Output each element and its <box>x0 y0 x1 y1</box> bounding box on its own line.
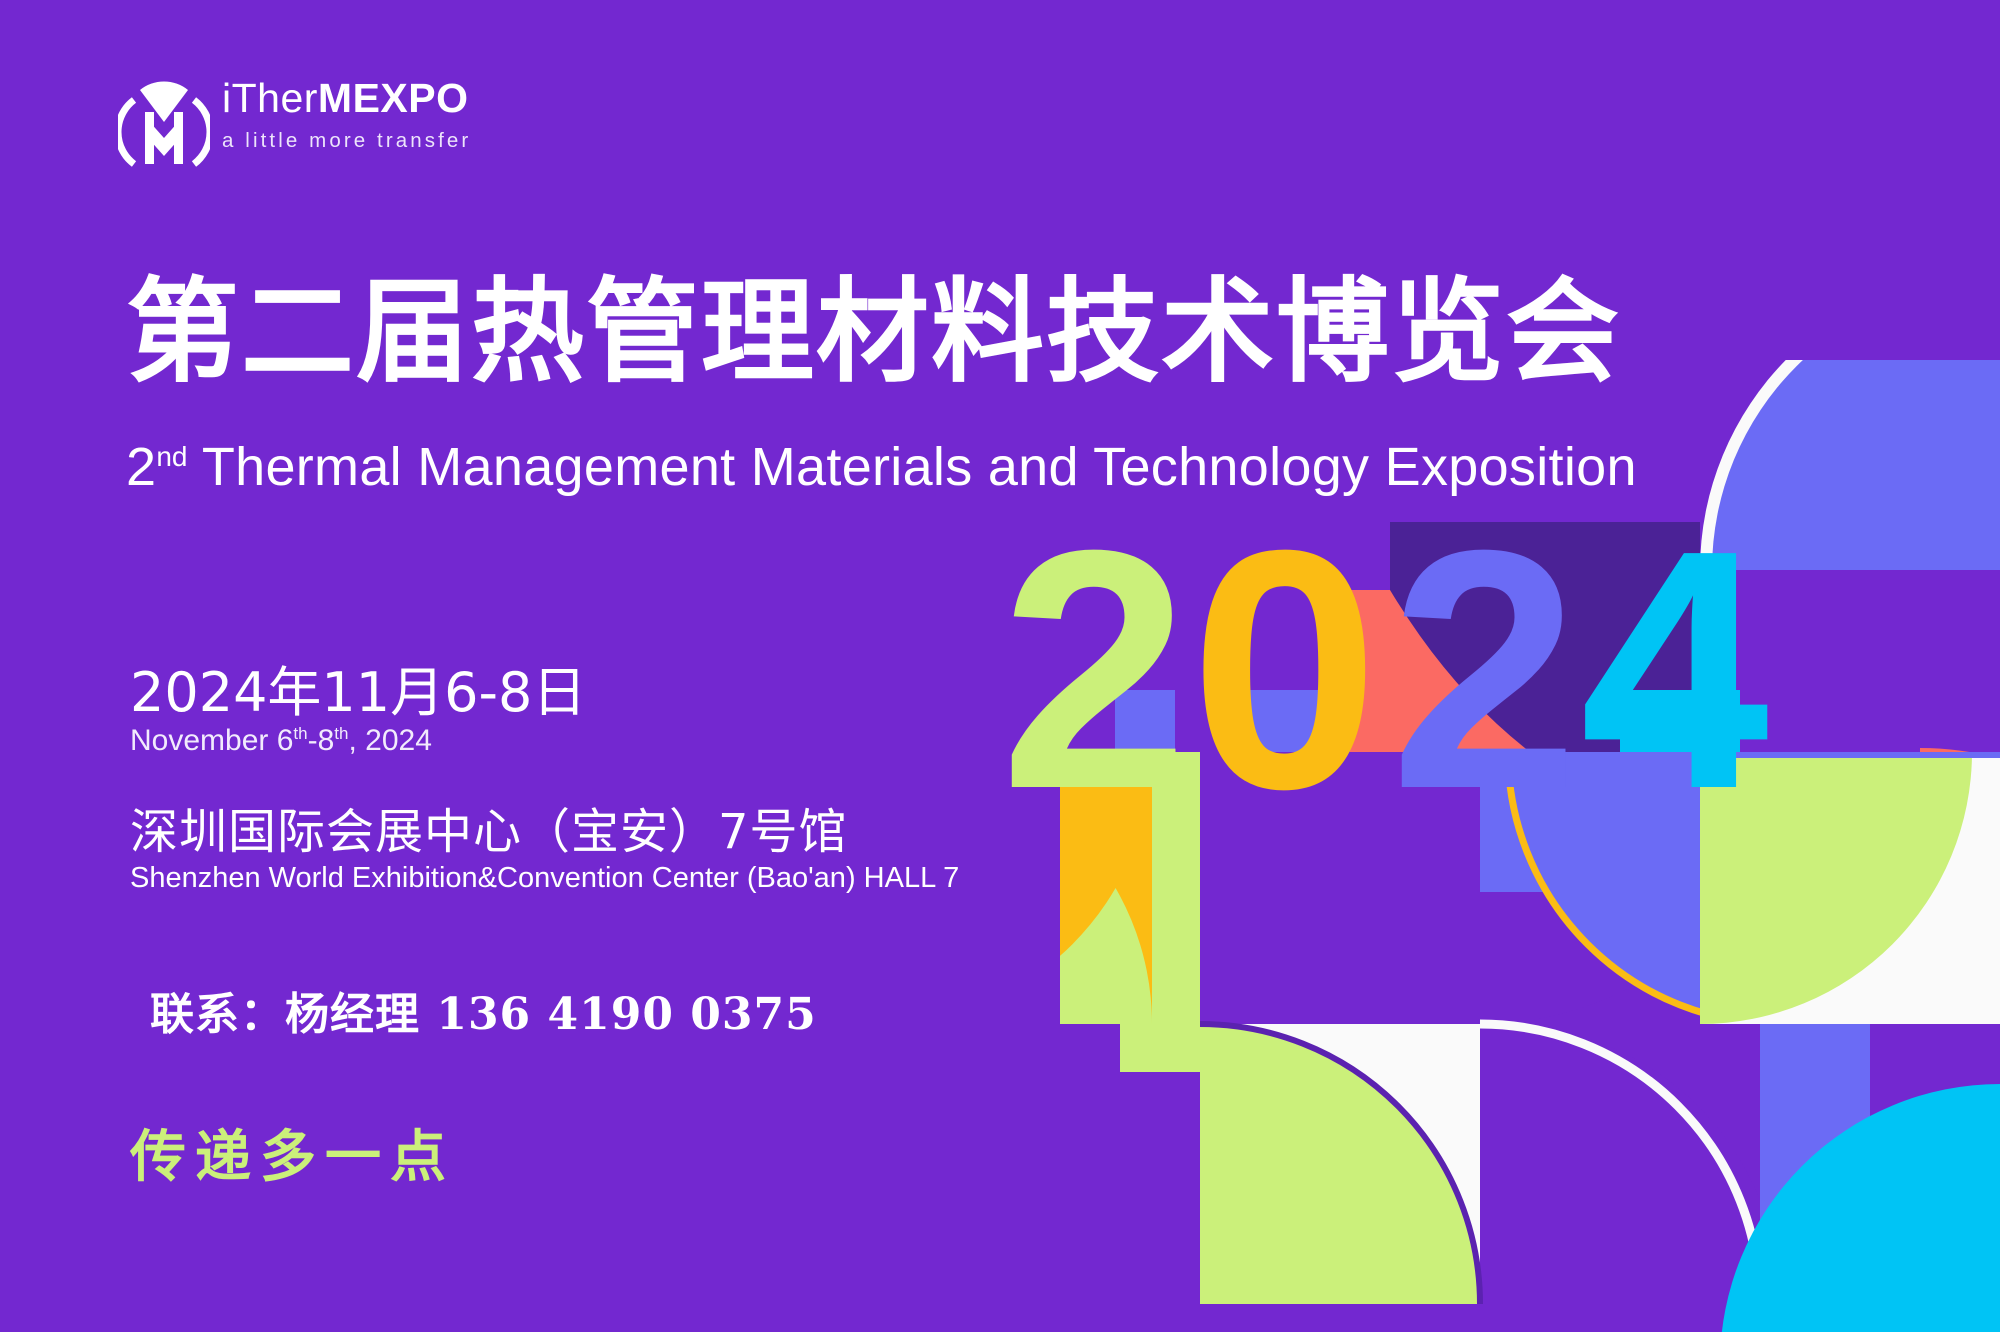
logo-wordmark-primary: iTher <box>222 75 318 121</box>
ithermexpo-monogram-icon <box>118 76 210 168</box>
contact-line: 联系：杨经理 136 4190 0375 <box>150 978 817 1042</box>
year-digit-2b: 2 <box>1390 500 1579 840</box>
headline-english: 2nd Thermal Management Materials and Tec… <box>126 438 1637 497</box>
slogan-text: 传递多一点 <box>130 1112 455 1193</box>
headline-chinese: 第二届热管理材料技术博览会 <box>126 276 1621 389</box>
date-sup-2: th <box>334 724 348 743</box>
logo-arc-left <box>118 100 134 164</box>
logo-arc-right <box>194 100 210 164</box>
contact-label: 联系：杨经理 <box>150 989 420 1040</box>
shape-lime-notch <box>1120 1024 1200 1072</box>
event-poster: 2 0 2 4 iTherMEXPO a little more transfe… <box>0 0 2000 1332</box>
contact-phone: 136 4190 0375 <box>436 989 816 1040</box>
year-digit-4: 4 <box>1580 500 1769 840</box>
brand-logo[interactable]: iTherMEXPO a little more transfer <box>118 76 538 172</box>
date-sup-1: th <box>293 724 307 743</box>
logo-wordmark-secondary: MEXPO <box>318 75 469 121</box>
logo-tagline: a little more transfer <box>222 129 471 153</box>
year-digit-0: 0 <box>1190 500 1379 840</box>
date-mid: -8 <box>308 724 335 757</box>
date-prefix: November 6 <box>130 724 293 757</box>
date-suffix: , 2024 <box>348 724 431 757</box>
headline-ordinal: 2 <box>126 437 156 497</box>
event-date-english: November 6th-8th, 2024 <box>130 724 432 758</box>
shape-purple-notch <box>1870 1024 2000 1084</box>
headline-english-rest: Thermal Management Materials and Technol… <box>202 437 1637 497</box>
venue-chinese: 深圳国际会展中心（宝安）7号馆 <box>130 792 848 862</box>
headline-ordinal-suffix: nd <box>156 441 187 472</box>
geometric-decoration: 2 0 2 4 <box>1060 360 2000 1332</box>
year-digit-2a: 2 <box>1000 500 1189 840</box>
venue-english: Shenzhen World Exhibition&Convention Cen… <box>130 862 959 895</box>
event-date-chinese: 2024年11月6-8日 <box>130 648 586 727</box>
logo-wordmark: iTherMEXPO <box>222 78 471 119</box>
logo-text-group: iTherMEXPO a little more transfer <box>222 78 471 153</box>
